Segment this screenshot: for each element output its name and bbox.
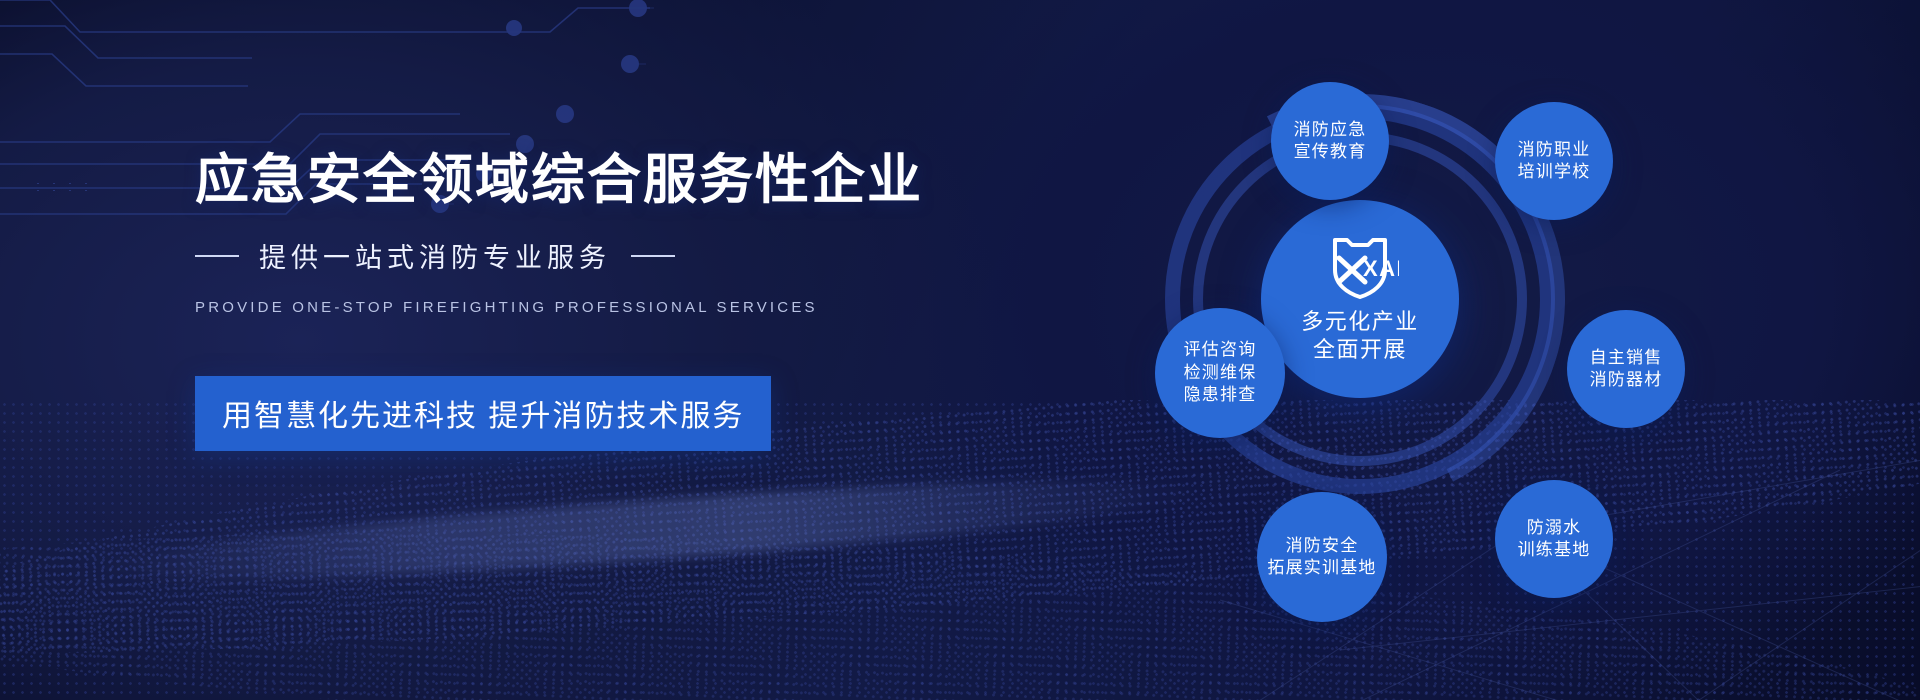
node-equipment-sales[interactable]: 自主销售 消防器材 [1567, 310, 1685, 428]
node-fire-vocational-school[interactable]: 消防职业 培训学校 [1495, 102, 1613, 220]
center-line-2: 全面开展 [1313, 336, 1407, 364]
cta-banner[interactable]: 用智慧化先进科技 提升消防技术服务 [195, 376, 771, 451]
node-line-1: 防溺水 [1527, 517, 1582, 539]
node-line-2: 培训学校 [1518, 161, 1591, 183]
node-anti-drowning-base[interactable]: 防溺水 训练基地 [1495, 480, 1613, 598]
node-line-1: 自主销售 [1590, 347, 1663, 369]
subtitle-row: 提供一站式消防专业服务 [195, 236, 955, 275]
hero-banner: 应急安全领域综合服务性企业 提供一站式消防专业服务 PROVIDE ONE-ST… [0, 0, 1920, 700]
logo-text: XAN [1363, 256, 1399, 281]
node-line-2: 消防器材 [1590, 369, 1663, 391]
rule-left-icon [195, 255, 239, 257]
center-line-1: 多元化产业 [1301, 308, 1419, 336]
english-tagline: PROVIDE ONE-STOP FIREFIGHTING PROFESSION… [195, 299, 955, 316]
center-node[interactable]: XAN 多元化产业 全面开展 [1261, 200, 1459, 398]
subtitle-text: 提供一站式消防专业服务 [259, 236, 611, 275]
shield-x-logo-icon: XAN [1321, 234, 1399, 300]
node-line-2: 训练基地 [1518, 539, 1591, 561]
dot-grid-decor [30, 180, 100, 194]
rule-right-icon [631, 255, 675, 257]
hero-text-block: 应急安全领域综合服务性企业 提供一站式消防专业服务 PROVIDE ONE-ST… [195, 150, 955, 451]
node-line-1: 评估咨询 [1184, 339, 1257, 361]
services-circle-diagram: XAN 多元化产业 全面开展 消防应急 宣传教育 消防职业 培训学校 自主销售 … [1075, 80, 1875, 600]
node-line-1: 消防职业 [1518, 139, 1591, 161]
page-title: 应急安全领域综合服务性企业 [195, 150, 955, 210]
node-line-2: 检测维保 [1184, 362, 1257, 384]
node-line-2: 拓展实训基地 [1267, 557, 1376, 579]
node-line-3: 隐患排查 [1184, 384, 1257, 406]
node-line-1: 消防安全 [1286, 535, 1359, 557]
node-assessment-inspection[interactable]: 评估咨询 检测维保 隐患排查 [1155, 308, 1285, 438]
node-line-1: 消防应急 [1294, 119, 1367, 141]
node-safety-training-base[interactable]: 消防安全 拓展实训基地 [1257, 492, 1387, 622]
node-line-2: 宣传教育 [1294, 141, 1367, 163]
node-fire-emergency-education[interactable]: 消防应急 宣传教育 [1271, 82, 1389, 200]
